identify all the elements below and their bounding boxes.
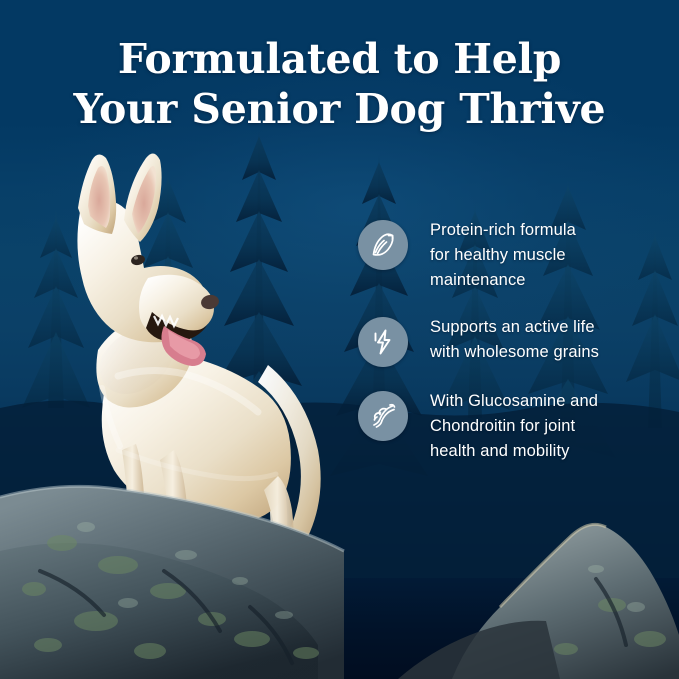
feature-text-line: Chondroitin for joint (430, 414, 598, 439)
feature-text-line: With Glucosamine and (430, 389, 598, 414)
feature-text-active-life: Supports an active life with wholesome g… (430, 315, 599, 365)
feature-item-active-life: Supports an active life with wholesome g… (358, 315, 658, 367)
feature-text-joint: With Glucosamine and Chondroitin for joi… (430, 389, 598, 464)
feature-text-protein: Protein-rich formula for healthy muscle … (430, 218, 576, 293)
feature-text-line: for healthy muscle (430, 243, 576, 268)
feature-text-line: maintenance (430, 268, 576, 293)
feature-text-line: Protein-rich formula (430, 218, 576, 243)
product-feature-banner: Formulated to Help Your Senior Dog Thriv… (0, 0, 679, 679)
feature-item-protein: Protein-rich formula for healthy muscle … (358, 218, 658, 293)
feature-item-joint: With Glucosamine and Chondroitin for joi… (358, 389, 658, 464)
rocky-outcrop (0, 439, 679, 679)
feature-text-line: Supports an active life (430, 315, 599, 340)
feature-text-line: with wholesome grains (430, 340, 599, 365)
feature-text-line: health and mobility (430, 439, 598, 464)
lightning-bolt-icon (358, 317, 408, 367)
muscle-icon (358, 220, 408, 270)
feature-list: Protein-rich formula for healthy muscle … (358, 218, 658, 464)
joint-icon (358, 391, 408, 441)
